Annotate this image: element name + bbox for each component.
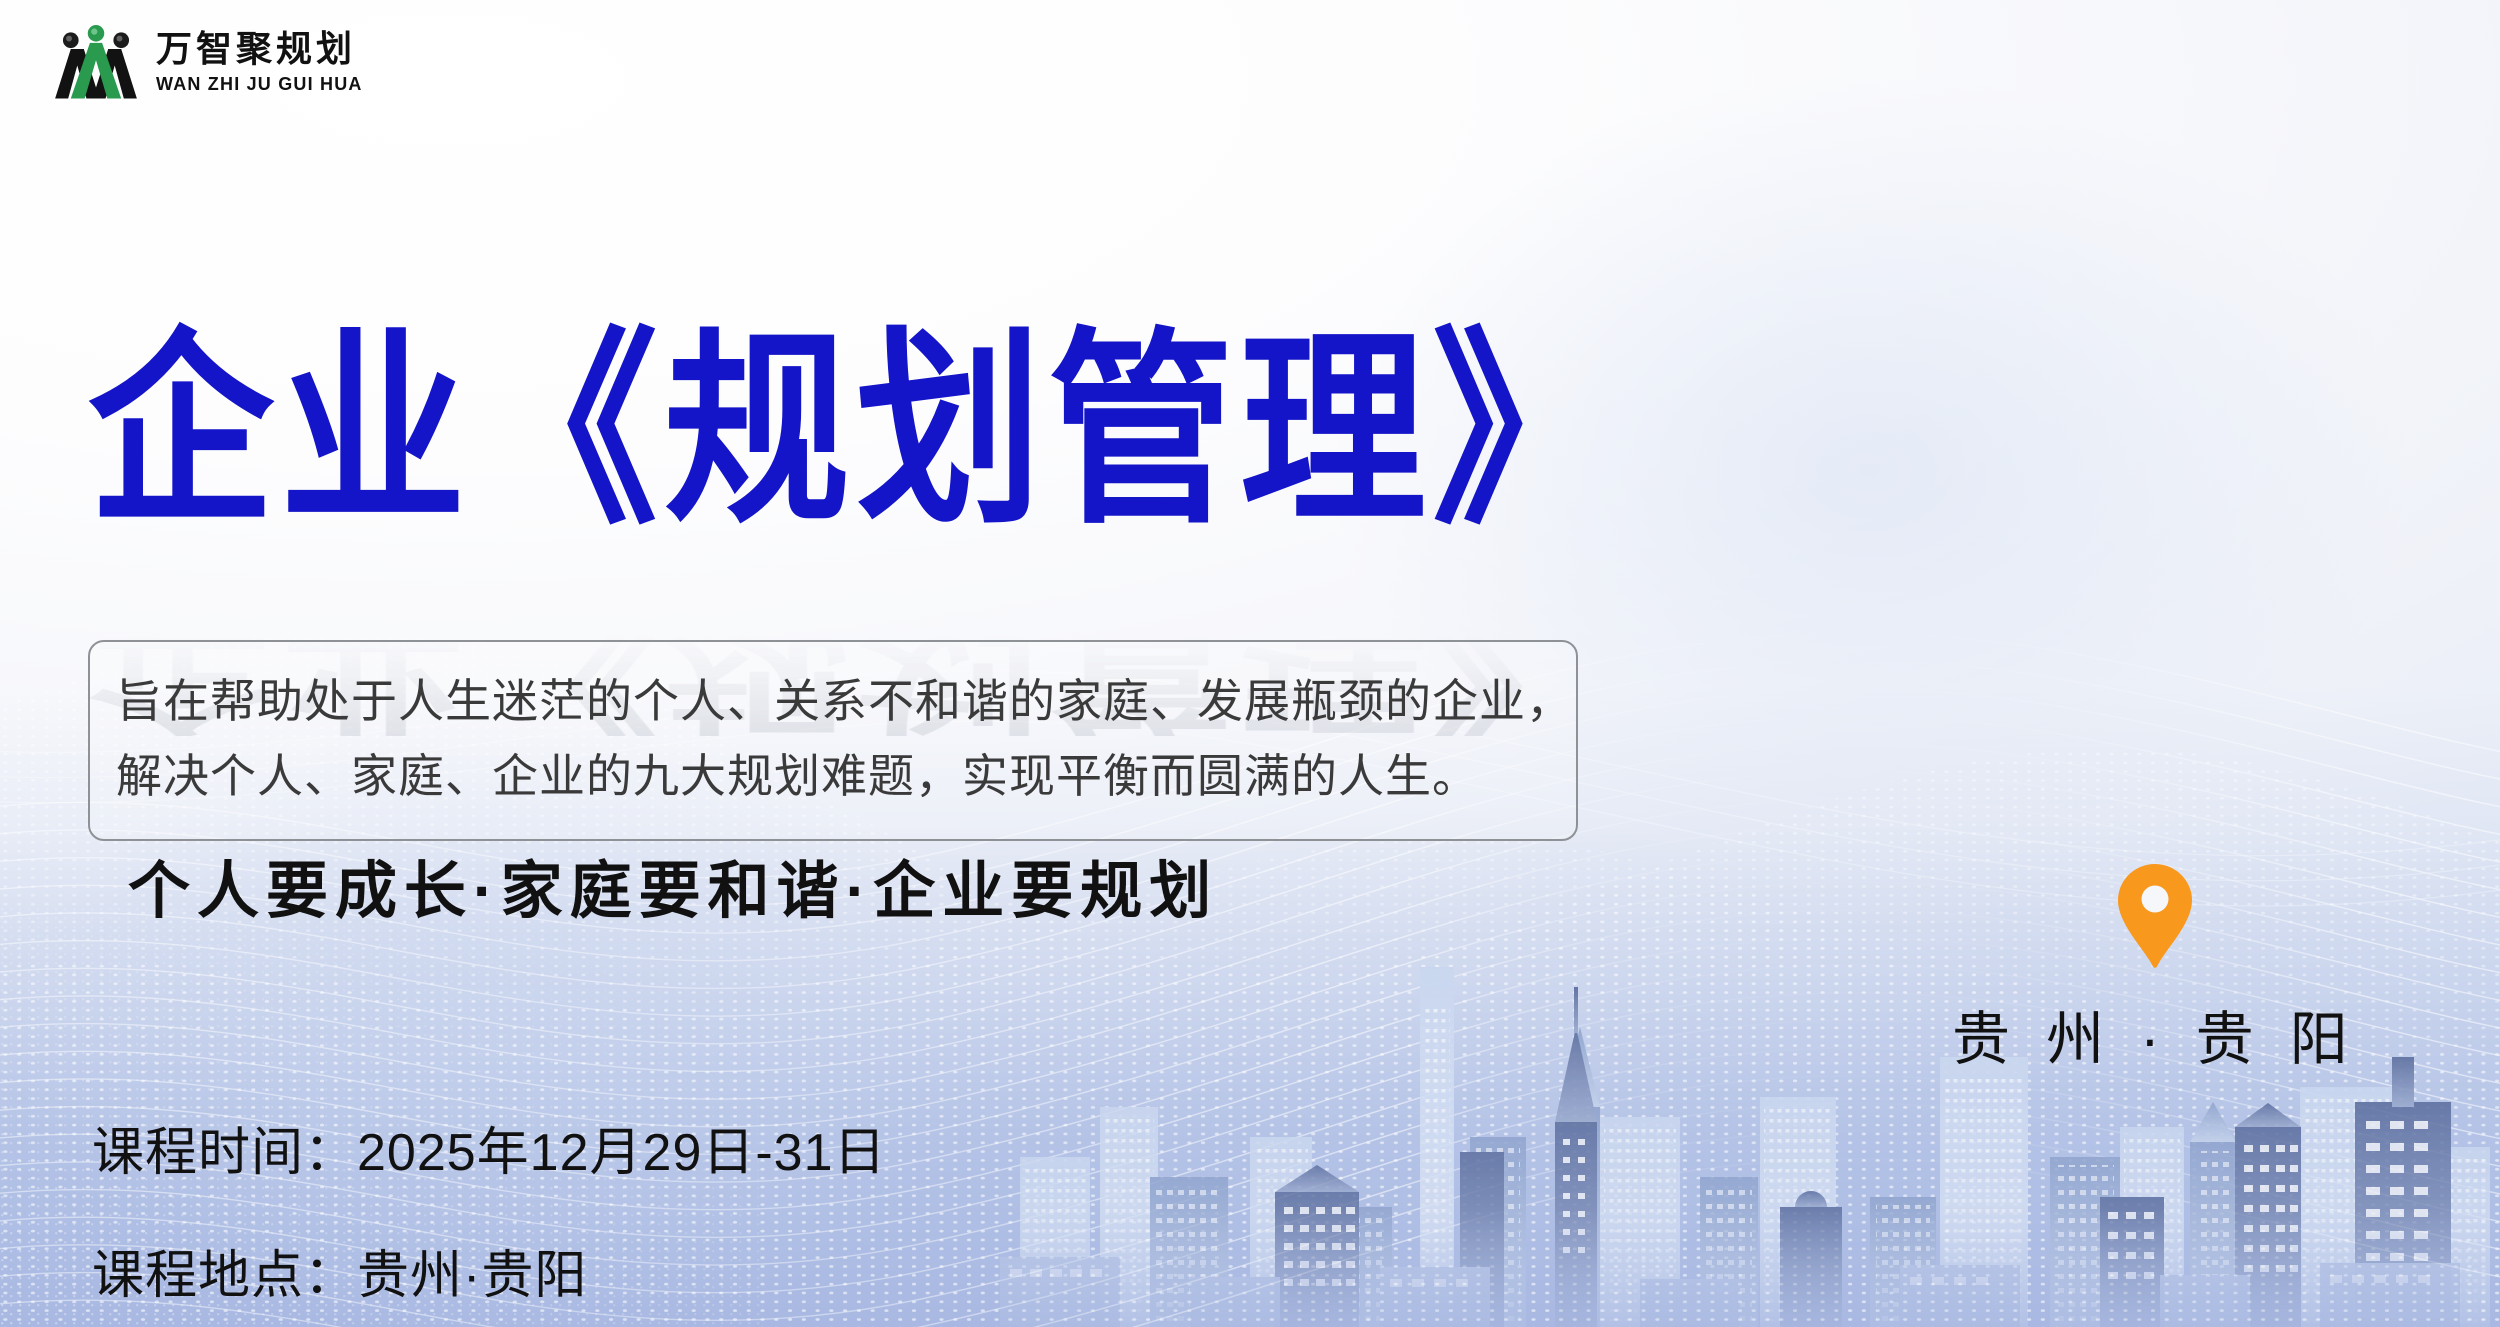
map-pin-icon (2113, 862, 2197, 970)
description-line-2: 解决个人、家庭、企业的九大规划难题，实现平衡而圆满的人生。 (116, 739, 1550, 814)
description-box: 旨在帮助处于人生迷茫的个人、关系不和谐的家庭、发展瓶颈的企业， 解决个人、家庭、… (88, 640, 1578, 841)
course-place: 课程地点：贵州·贵阳 (92, 1233, 887, 1308)
location-city-label: 贵 州 · 贵 阳 (1952, 992, 2358, 1076)
tagline: 个人要成长·家庭要和谐·企业要规划 (128, 840, 1218, 930)
course-time: 课程时间：2025年12月29日-31日 (92, 1110, 887, 1185)
page-title: 企业《规划管理》 (88, 328, 1624, 536)
poster-canvas: 万智聚规划 WAN ZHI JU GUI HUA 企业《规划管理》 企业《规划管… (0, 0, 2500, 1327)
description-line-1: 旨在帮助处于人生迷茫的个人、关系不和谐的家庭、发展瓶颈的企业， (116, 664, 1550, 739)
brand-logo[interactable]: 万智聚规划 WAN ZHI JU GUI HUA (52, 22, 363, 102)
location-badge: 贵 州 · 贵 阳 (1952, 862, 2358, 1076)
course-info-block: 课程时间：2025年12月29日-31日 课程地点：贵州·贵阳 (92, 1110, 887, 1308)
brand-name-cn: 万智聚规划 (156, 31, 363, 67)
brand-logo-text: 万智聚规划 WAN ZHI JU GUI HUA (156, 31, 363, 93)
brand-name-en: WAN ZHI JU GUI HUA (156, 75, 363, 93)
three-people-mountain-logo-icon (52, 22, 140, 102)
